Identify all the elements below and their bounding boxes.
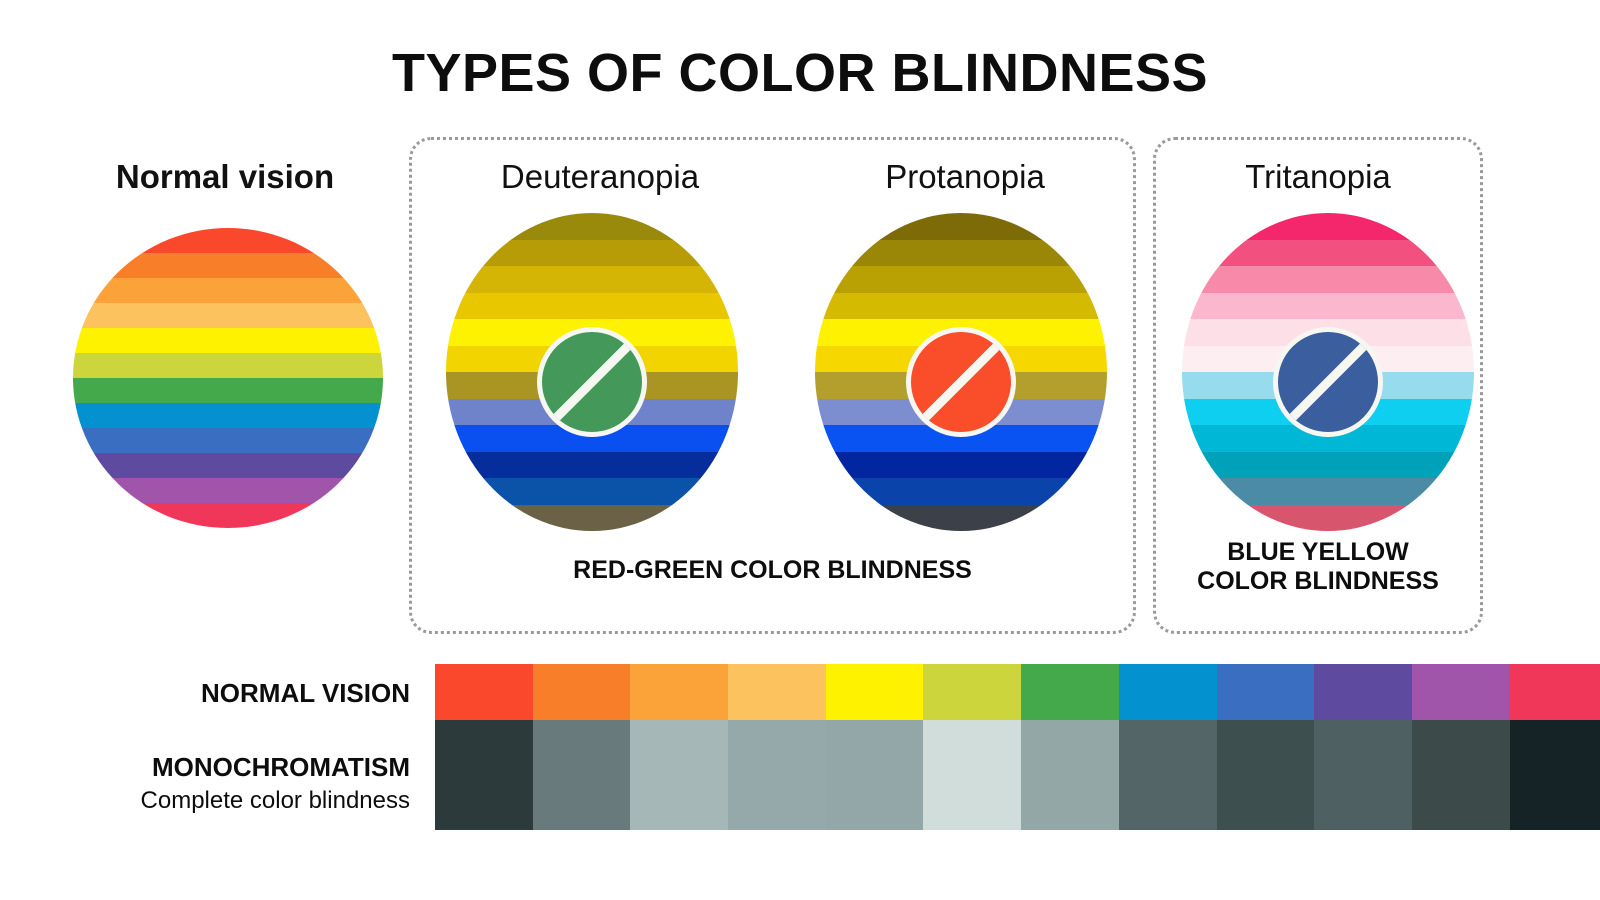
column-title-protanopia: Protanopia (795, 158, 1135, 196)
color-stripe (73, 478, 383, 503)
color-swatch (1412, 664, 1510, 720)
color-stripe (73, 453, 383, 478)
color-stripe (1182, 293, 1474, 320)
no-red-icon (906, 327, 1016, 437)
color-swatch (533, 720, 631, 830)
no-blue-icon (1273, 327, 1383, 437)
color-stripe (446, 293, 738, 320)
bar-label-monochromatism: MONOCHROMATISM (0, 752, 410, 783)
color-swatch (630, 664, 728, 720)
color-swatch (533, 664, 631, 720)
column-title-normal-vision: Normal vision (55, 158, 395, 196)
swatch-row-monochromatism (435, 720, 1600, 830)
color-stripe (73, 303, 383, 328)
swatch-comparison-bars (435, 664, 1600, 830)
color-stripe (73, 253, 383, 278)
color-swatch (1412, 720, 1510, 830)
caption-red-green-color-blindness: RED-GREEN COLOR BLINDNESS (409, 556, 1136, 585)
color-swatch (1119, 720, 1217, 830)
color-swatch (1314, 720, 1412, 830)
no-green-icon (537, 327, 647, 437)
color-stripe (446, 266, 738, 293)
color-swatch (435, 720, 533, 830)
column-title-tritanopia: Tritanopia (1158, 158, 1478, 196)
color-stripe (73, 503, 383, 528)
color-swatch (923, 664, 1021, 720)
color-swatch (728, 664, 826, 720)
color-stripe (446, 452, 738, 479)
color-swatch (1021, 664, 1119, 720)
color-stripe (73, 403, 383, 428)
color-swatch (1119, 664, 1217, 720)
color-swatch (826, 664, 924, 720)
color-swatch (826, 720, 924, 830)
color-stripe (73, 378, 383, 403)
color-stripe (815, 293, 1107, 320)
color-stripe (815, 266, 1107, 293)
color-swatch (630, 720, 728, 830)
slash-line (1278, 332, 1378, 432)
slash-line (542, 332, 642, 432)
color-swatch (1217, 664, 1315, 720)
color-swatch (1510, 720, 1600, 830)
color-swatch (923, 720, 1021, 830)
color-stripe (815, 452, 1107, 479)
color-swatch (1314, 664, 1412, 720)
color-stripe (1182, 266, 1474, 293)
color-swatch (1217, 720, 1315, 830)
slash-line (911, 332, 1011, 432)
color-stripe (73, 228, 383, 253)
color-swatch (1510, 664, 1600, 720)
page-title: TYPES OF COLOR BLINDNESS (0, 42, 1600, 104)
column-title-deuteranopia: Deuteranopia (430, 158, 770, 196)
caption-blue-yellow-color-blindness: BLUE YELLOW COLOR BLINDNESS (1153, 538, 1483, 596)
color-stripe (73, 353, 383, 378)
bar-sublabel-complete-color-blindness: Complete color blindness (0, 787, 410, 815)
swatch-row-normal-vision (435, 664, 1600, 720)
color-stripe (1182, 452, 1474, 479)
color-swatch (435, 664, 533, 720)
bar-label-normal-vision: NORMAL VISION (0, 678, 410, 709)
vision-circle-normal (73, 228, 383, 528)
color-stripe (73, 278, 383, 303)
color-swatch (728, 720, 826, 830)
color-stripe (73, 328, 383, 353)
color-stripe (73, 428, 383, 453)
color-swatch (1021, 720, 1119, 830)
